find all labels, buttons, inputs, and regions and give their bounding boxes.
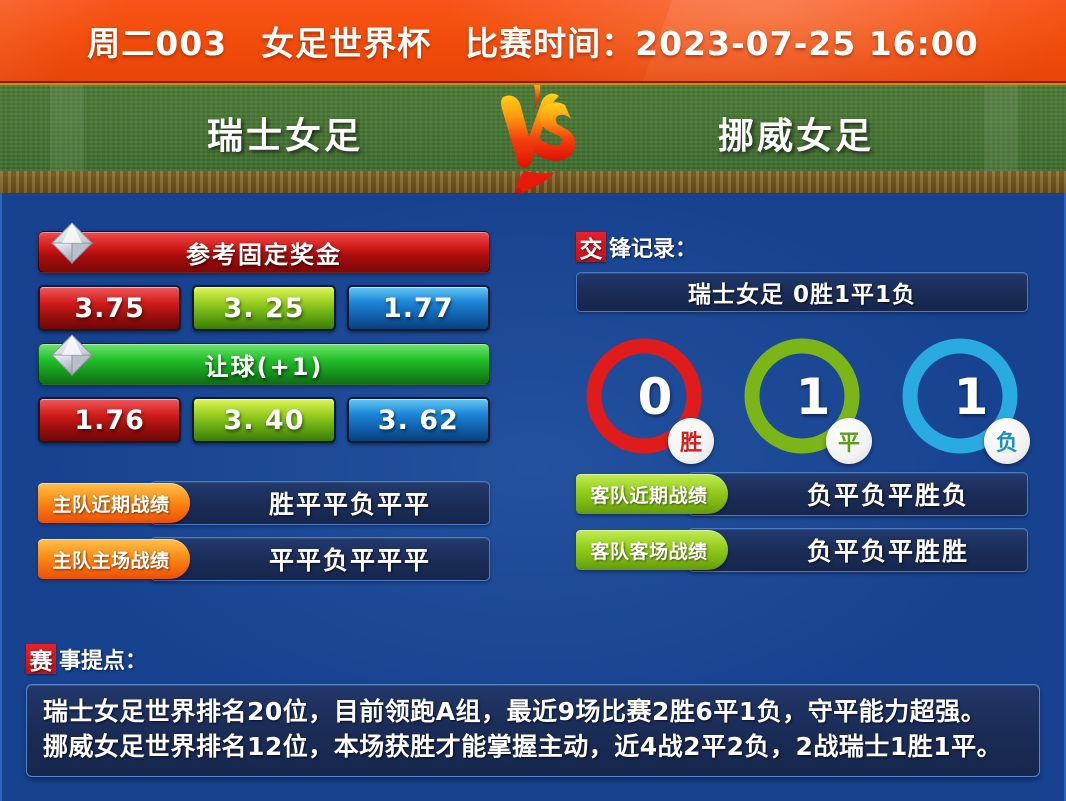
match-tips-section: 赛 事提点： 瑞士女足世界排名20位，目前领跑A组，最近9场比赛2胜6平1负，守… xyxy=(26,643,1040,777)
teams-banner: 瑞士女足 挪威女足 xyxy=(0,83,1066,193)
fixed-odds-draw[interactable]: 3. 25 xyxy=(192,285,335,331)
diamond-gem-icon xyxy=(49,220,95,266)
home-recent-form-row: 主队近期战绩 胜平平负平平 xyxy=(38,481,490,525)
handicap-odds-row: 1.76 3. 40 3. 62 xyxy=(38,397,490,443)
tips-title-badge: 赛 xyxy=(26,644,56,674)
fixed-odds-header-label: 参考固定奖金 xyxy=(186,235,342,270)
handicap-odds-draw[interactable]: 3. 40 xyxy=(192,397,335,443)
diamond-gem-icon xyxy=(49,332,95,378)
match-header-banner: 周二003 女足世界杯 比赛时间：2023-07-25 16:00 xyxy=(0,0,1066,83)
away-guest-form-tag: 客队客场战绩 xyxy=(576,530,728,570)
tips-title-text: 事提点： xyxy=(59,643,147,675)
away-recent-form-tag: 客队近期战绩 xyxy=(576,474,728,514)
handicap-odds-win[interactable]: 1.76 xyxy=(38,397,181,443)
h2h-title-text: 锋记录： xyxy=(609,231,697,263)
home-team-name: 瑞士女足 xyxy=(120,107,450,159)
odds-section: 参考固定奖金 3.75 3. 25 1.77 让球(+1) 1.76 3. 40… xyxy=(38,231,490,593)
h2h-summary-bar: 瑞士女足 0胜1平1负 xyxy=(576,272,1028,312)
away-recent-form-row: 客队近期战绩 负平负平胜负 xyxy=(576,472,1028,516)
home-recent-form-value: 胜平平负平平 xyxy=(150,481,490,525)
home-host-form-tag: 主队主场战绩 xyxy=(38,539,190,579)
fixed-odds-header: 参考固定奖金 xyxy=(38,231,490,273)
fixed-odds-row: 3.75 3. 25 1.77 xyxy=(38,285,490,331)
h2h-ring-draw: 1 平 xyxy=(740,334,864,458)
grass-light-stripe-right xyxy=(984,85,1018,177)
h2h-win-label: 胜 xyxy=(668,418,714,464)
handicap-odds-header-label: 让球(+1) xyxy=(205,347,324,382)
tips-box: 瑞士女足世界排名20位，目前领跑A组，最近9场比赛2胜6平1负，守平能力超强。 … xyxy=(26,684,1040,777)
tips-line-1: 瑞士女足世界排名20位，目前领跑A组，最近9场比赛2胜6平1负，守平能力超强。 xyxy=(43,695,1023,730)
fixed-odds-loss[interactable]: 1.77 xyxy=(347,285,490,331)
head-to-head-section: 交 锋记录： 瑞士女足 0胜1平1负 0 胜 1 平 xyxy=(576,231,1028,584)
header-title: 周二003 女足世界杯 比赛时间：2023-07-25 16:00 xyxy=(0,0,1066,81)
away-guest-form-row: 客队客场战绩 负平负平胜胜 xyxy=(576,528,1028,572)
tips-line-2: 挪威女足世界排名12位，本场获胜才能掌握主动，近4战2平2负，2战瑞士1胜1平。 xyxy=(43,730,1023,765)
tips-title: 赛 事提点： xyxy=(26,643,1040,675)
h2h-ring-loss: 1 负 xyxy=(898,334,1022,458)
fixed-odds-win[interactable]: 3.75 xyxy=(38,285,181,331)
handicap-odds-header: 让球(+1) xyxy=(38,343,490,385)
h2h-ring-win: 0 胜 xyxy=(582,334,706,458)
main-content-panel: 参考固定奖金 3.75 3. 25 1.77 让球(+1) 1.76 3. 40… xyxy=(0,193,1066,801)
home-host-form-row: 主队主场战绩 平平负平平平 xyxy=(38,537,490,581)
vs-flame-icon xyxy=(489,83,585,193)
h2h-title-badge: 交 xyxy=(576,232,606,262)
h2h-draw-label: 平 xyxy=(826,418,872,464)
h2h-title: 交 锋记录： xyxy=(576,231,1028,263)
away-guest-form-value: 负平负平胜胜 xyxy=(688,528,1028,572)
h2h-ring-stats: 0 胜 1 平 1 负 xyxy=(576,334,1028,458)
handicap-odds-loss[interactable]: 3. 62 xyxy=(347,397,490,443)
grass-light-stripe-left xyxy=(50,85,84,177)
away-team-name: 挪威女足 xyxy=(631,107,961,159)
home-host-form-value: 平平负平平平 xyxy=(150,537,490,581)
h2h-loss-label: 负 xyxy=(984,418,1030,464)
home-recent-form-tag: 主队近期战绩 xyxy=(38,483,190,523)
away-recent-form-value: 负平负平胜负 xyxy=(688,472,1028,516)
